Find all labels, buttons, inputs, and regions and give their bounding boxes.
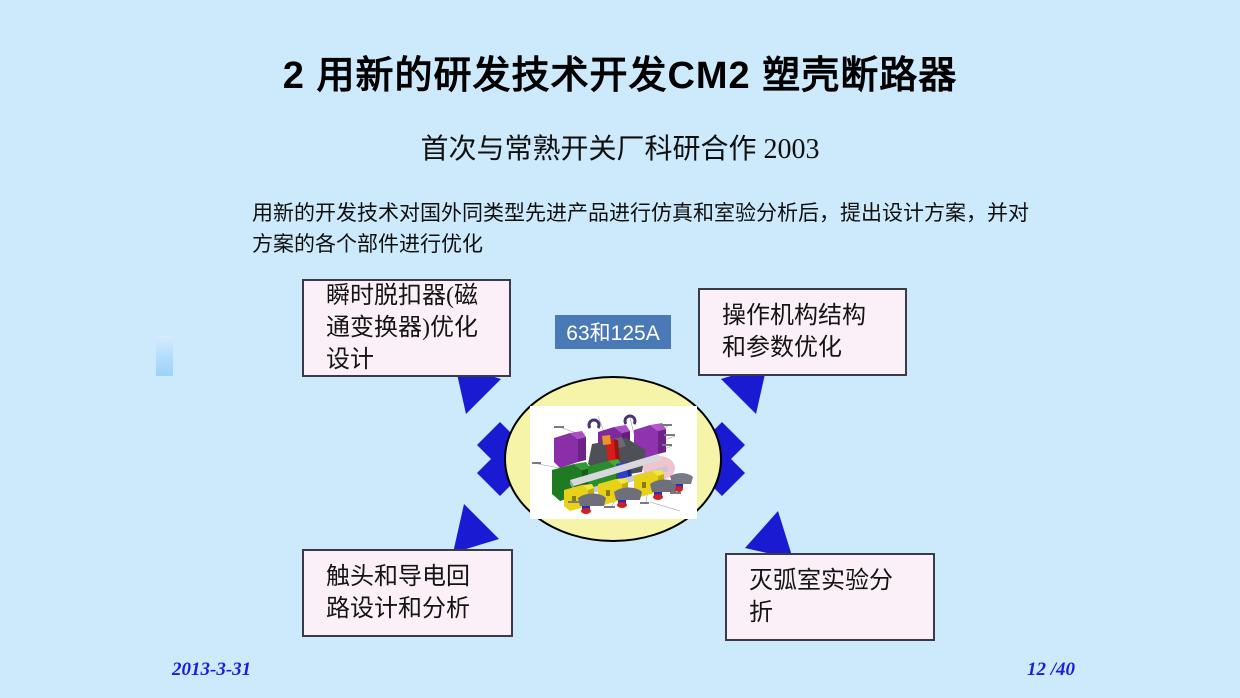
arrow-layer: [0, 0, 1240, 698]
node-bottom-right-label: 灭弧室实验分 折: [749, 565, 893, 629]
node-top-left[interactable]: 瞬时脱扣器(磁 通变换器)优化 设计: [302, 279, 511, 377]
rating-tag: 63和125A: [555, 315, 671, 349]
rating-tag-label: 63和125A: [566, 317, 659, 347]
node-bottom-right[interactable]: 灭弧室实验分 折: [725, 553, 935, 641]
node-bottom-left-label: 触头和导电回 路设计和分析: [326, 561, 470, 625]
slide-canvas: 2 用新的研发技术开发CM2 塑壳断路器 首次与常熟开关厂科研合作 2003 用…: [0, 0, 1240, 698]
process-diagram: 63和125A 瞬时脱扣器(磁 通变换器)优化 设计 操作机构结构 和参数优化 …: [0, 0, 1240, 698]
footer-page-number: 12 /40: [1027, 659, 1075, 681]
node-top-right[interactable]: 操作机构结构 和参数优化: [698, 288, 907, 376]
node-top-left-label: 瞬时脱扣器(磁 通变换器)优化 设计: [326, 280, 478, 376]
node-bottom-left[interactable]: 触头和导电回 路设计和分析: [302, 549, 513, 637]
node-top-right-label: 操作机构结构 和参数优化: [722, 300, 866, 364]
footer-date: 2013-3-31: [172, 659, 251, 681]
breaker-assembly-image: [530, 406, 697, 519]
